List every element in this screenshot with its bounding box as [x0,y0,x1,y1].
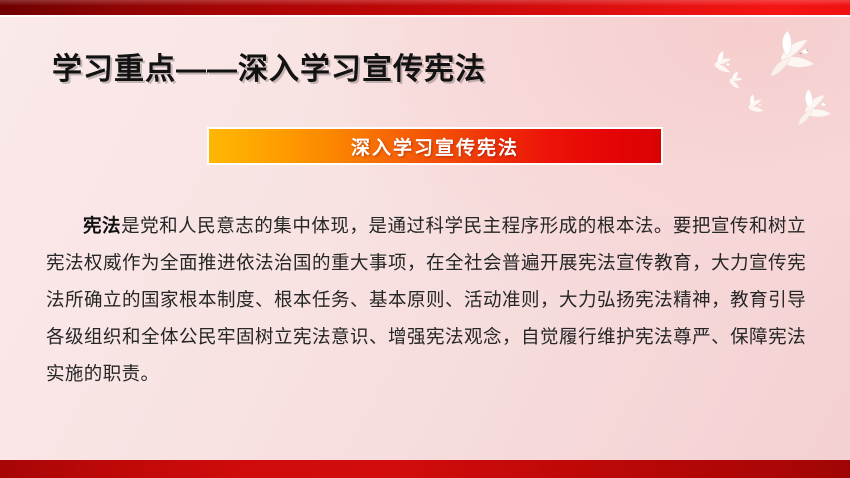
bottom-red-bar [0,460,850,478]
top-bar-white-edge [0,15,850,17]
section-banner: 深入学习宣传宪法 [207,127,663,165]
slide-canvas: 学习重点——深入学习宣传宪法 深入学习宣传宪法 宪法是党和人民意志的集中体现，是… [0,0,850,478]
slide-title: 学习重点——深入学习宣传宪法 [52,44,486,88]
body-rest-text: 是党和人民意志的集中体现，是通过科学民主程序形成的根本法。要把宣传和树立宪法权威… [46,217,806,385]
body-paragraph: 宪法是党和人民意志的集中体现，是通过科学民主程序形成的根本法。要把宣传和树立宪法… [46,209,806,394]
top-red-bar [0,0,850,15]
body-lead-term: 宪法 [83,217,121,237]
top-bar-highlight [0,0,850,6]
section-banner-label: 深入学习宣传宪法 [351,133,519,160]
